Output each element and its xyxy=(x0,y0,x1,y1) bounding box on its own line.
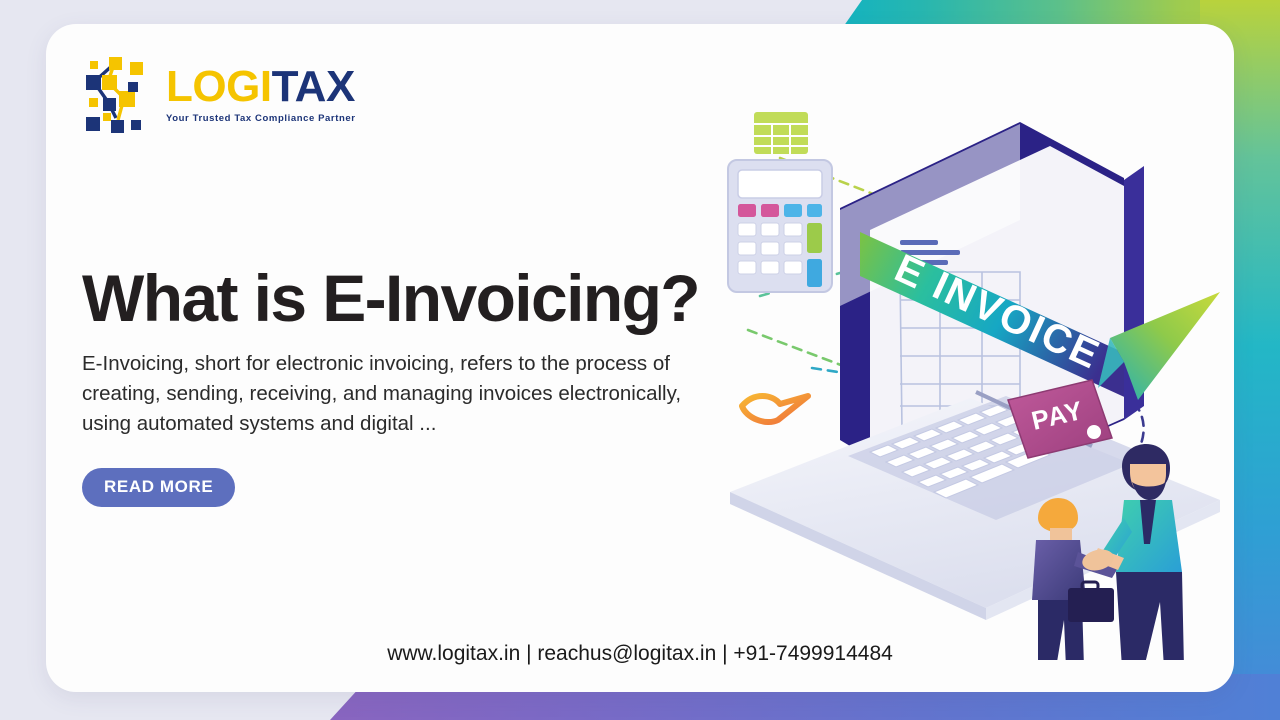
footer-contact[interactable]: www.logitax.in | reachus@logitax.in | +9… xyxy=(46,642,1234,666)
logo-tagline: Your Trusted Tax Compliance Partner xyxy=(166,114,356,124)
logo-wordmark: LOGITAX Your Trusted Tax Compliance Part… xyxy=(166,65,356,124)
body-paragraph: E-Invoicing, short for electronic invoic… xyxy=(82,349,702,438)
network-nodes-icon xyxy=(78,52,152,136)
logo-text-logi: LOGI xyxy=(166,62,272,111)
logo-text-tax: TAX xyxy=(272,62,355,111)
copy-block: What is E-Invoicing? E-Invoicing, short … xyxy=(82,264,782,507)
cursor-arrow-icon xyxy=(742,396,808,422)
e-invoicing-illustration: E INVOICE xyxy=(720,100,1234,660)
read-more-button[interactable]: READ MORE xyxy=(82,468,235,507)
spreadsheet-icon xyxy=(754,112,808,154)
content-card: LOGITAX Your Trusted Tax Compliance Part… xyxy=(46,24,1234,692)
logitax-logo[interactable]: LOGITAX Your Trusted Tax Compliance Part… xyxy=(78,52,356,136)
page-title: What is E-Invoicing? xyxy=(82,264,782,333)
calculator-icon xyxy=(728,160,832,292)
poster-canvas: LOGITAX Your Trusted Tax Compliance Part… xyxy=(0,0,1280,720)
